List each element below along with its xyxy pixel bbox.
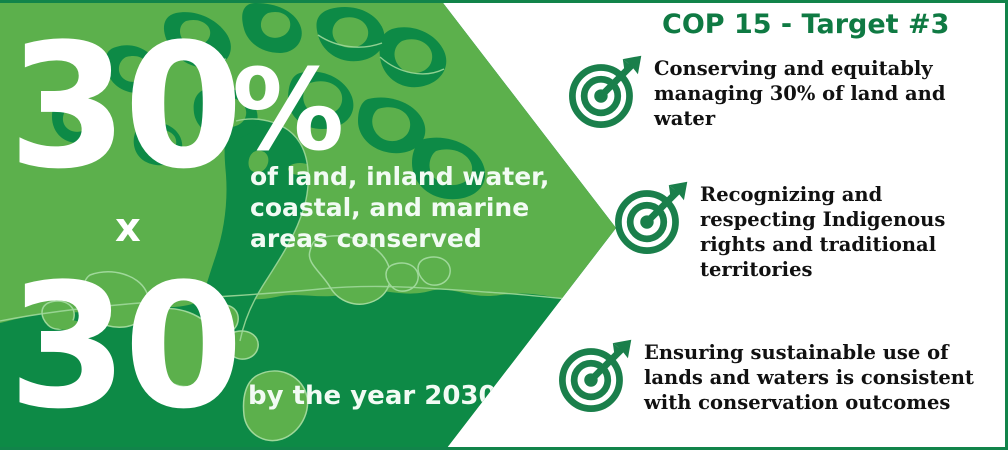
page-title: COP 15 - Target #3 xyxy=(662,11,949,38)
deadline-text: by the year 2030 xyxy=(248,383,497,409)
target-bullet-2: Recognizing and respecting Indigenous ri… xyxy=(610,175,1008,283)
bullet-1-text: Conserving and equitably managing 30% of… xyxy=(654,49,974,132)
bullet-2-line-2: respecting Indigenous xyxy=(700,208,980,233)
bullet-3-line-2: lands and waters is consistent xyxy=(644,366,1004,391)
target-bullet-1: Conserving and equitably managing 30% of… xyxy=(564,49,1008,133)
subtitle-line-1: of land, inland water, xyxy=(250,161,580,192)
right-content-panel: COP 15 - Target #3 Conserving and equita… xyxy=(616,3,1005,450)
bullet-3-text: Ensuring sustainable use of lands and wa… xyxy=(644,333,1004,416)
bullet-1-line-1: Conserving and equitably xyxy=(654,57,974,82)
bullet-2-line-4: territories xyxy=(700,258,980,283)
subtitle-line-2: coastal, and marine xyxy=(250,192,580,223)
percent-symbol: % xyxy=(232,55,344,167)
target-arrow-icon xyxy=(564,49,648,133)
headline-30-bottom: 30 xyxy=(8,261,239,433)
bullet-2-line-3: rights and traditional xyxy=(700,233,980,258)
target-bullet-3: Ensuring sustainable use of lands and wa… xyxy=(554,333,1008,417)
bullet-3-line-3: with conservation outcomes xyxy=(644,391,1004,416)
subtitle-text: of land, inland water, coastal, and mari… xyxy=(250,161,580,254)
target-arrow-icon xyxy=(610,175,694,259)
bullet-2-text: Recognizing and respecting Indigenous ri… xyxy=(700,175,980,283)
bullet-1-line-2: managing 30% of land and xyxy=(654,82,974,107)
infographic-canvas: 30 % x 30 of land, inland water, coastal… xyxy=(0,0,1008,450)
multiplier-x: x xyxy=(115,208,141,248)
headline-30-top: 30 xyxy=(8,21,239,193)
bullet-3-line-1: Ensuring sustainable use of xyxy=(644,341,1004,366)
bullet-1-line-3: water xyxy=(654,107,974,132)
target-arrow-icon xyxy=(554,333,638,417)
subtitle-line-3: areas conserved xyxy=(250,223,580,254)
left-green-arrow-panel: 30 % x 30 of land, inland water, coastal… xyxy=(0,3,616,450)
bullet-2-line-1: Recognizing and xyxy=(700,183,980,208)
